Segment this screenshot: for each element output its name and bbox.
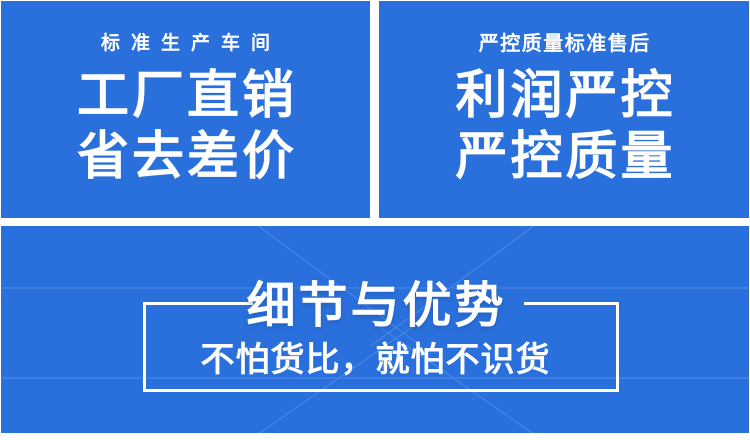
panel-factory-direct: 标准生产车间 工厂直销 省去差价 [1,1,370,218]
panel-quality-control-content: 严控质量标准售后 利润严控 严控质量 [379,1,749,218]
panel-factory-direct-headline-line2: 省去差价 [74,129,297,185]
panel-details-advantages [1,226,749,433]
panel-quality-control: 严控质量标准售后 利润严控 严控质量 [379,1,749,218]
panel-factory-direct-headline-line1: 工厂直销 [74,68,297,124]
diagonal-pattern-decoration [1,226,749,433]
panel-quality-control-headline-line2: 严控质量 [452,129,675,185]
promo-banner: 标准生产车间 工厂直销 省去差价 严控质量标准售后 利润严控 严控质量 [0,0,750,440]
panel-quality-control-kicker: 严控质量标准售后 [477,34,651,54]
panel-factory-direct-content: 标准生产车间 工厂直销 省去差价 [1,1,370,218]
panel-quality-control-headline-line1: 利润严控 [452,68,675,124]
panel-factory-direct-kicker: 标准生产车间 [90,34,281,53]
